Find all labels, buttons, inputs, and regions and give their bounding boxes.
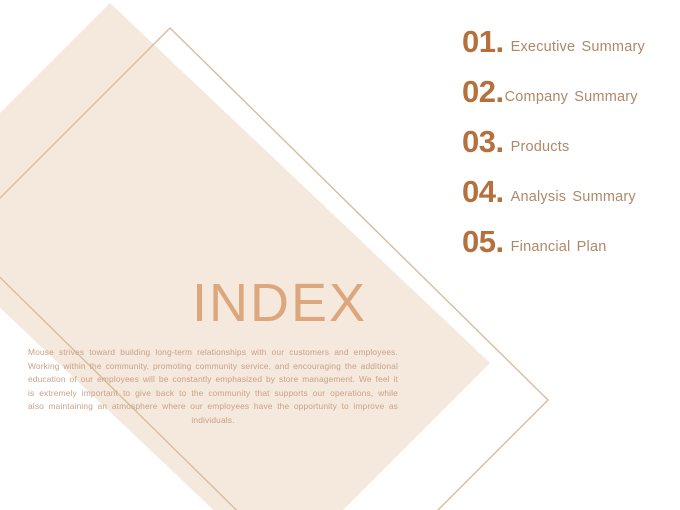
agenda-number-2: 02. — [462, 74, 504, 110]
agenda-item-2[interactable]: 02. Company Summary — [462, 74, 680, 124]
agenda-list: 01. Executive Summary 02. Company Summar… — [462, 24, 680, 274]
agenda-item-5[interactable]: 05. Financial Plan — [462, 224, 680, 274]
agenda-item-4[interactable]: 04. Analysis Summary — [462, 174, 680, 224]
index-description: Mouse strives toward building long-term … — [28, 346, 398, 428]
agenda-item-3[interactable]: 03. Products — [462, 124, 680, 174]
slide-canvas: INDEX Mouse strives toward building long… — [0, 0, 680, 510]
agenda-number-4: 04. — [462, 174, 504, 210]
filled-diamond-shape — [0, 3, 490, 510]
agenda-number-3: 03. — [462, 124, 504, 160]
agenda-label-4: Analysis Summary — [504, 189, 636, 205]
agenda-label-2: Company Summary — [504, 89, 638, 105]
agenda-number-1: 01. — [462, 24, 504, 60]
index-block: INDEX Mouse strives toward building long… — [28, 276, 398, 428]
agenda-number-5: 05. — [462, 224, 504, 260]
agenda-label-1: Executive Summary — [504, 39, 645, 55]
agenda-label-5: Financial Plan — [504, 239, 607, 255]
agenda-item-1[interactable]: 01. Executive Summary — [462, 24, 680, 74]
agenda-label-3: Products — [504, 139, 570, 155]
page-title: INDEX — [28, 276, 398, 330]
